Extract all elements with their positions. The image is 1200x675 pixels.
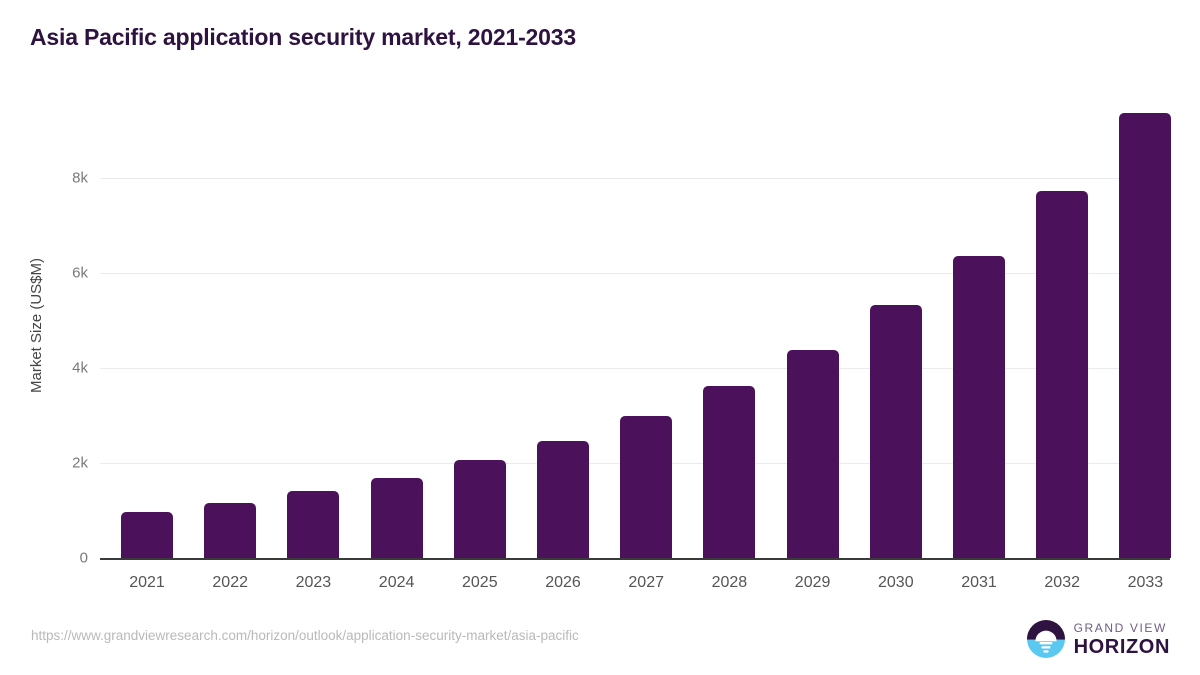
bar[interactable] bbox=[454, 460, 506, 558]
y-tick-mark bbox=[100, 273, 108, 274]
y-tick-mark bbox=[100, 368, 108, 369]
x-tick-label: 2021 bbox=[107, 574, 187, 592]
logo-line-2: HORIZON bbox=[1074, 637, 1170, 657]
bar[interactable] bbox=[287, 491, 339, 558]
y-tick-mark bbox=[100, 463, 108, 464]
bar[interactable] bbox=[787, 350, 839, 558]
y-tick-label: 8k bbox=[28, 169, 88, 186]
bar[interactable] bbox=[1036, 191, 1088, 558]
axis-baseline bbox=[100, 558, 1170, 560]
x-tick-label: 2025 bbox=[440, 574, 520, 592]
x-tick-label: 2022 bbox=[190, 574, 270, 592]
x-tick-label: 2027 bbox=[606, 574, 686, 592]
y-tick-label: 0 bbox=[28, 550, 88, 567]
bar[interactable] bbox=[204, 503, 256, 558]
bar[interactable] bbox=[1119, 113, 1171, 558]
horizon-sun-circle-icon bbox=[1027, 620, 1065, 658]
page-title: Asia Pacific application security market… bbox=[30, 24, 576, 51]
bar[interactable] bbox=[121, 512, 173, 558]
gridline bbox=[108, 273, 1170, 274]
brand-logo: GRAND VIEW HORIZON bbox=[1027, 620, 1170, 658]
logo-wordmark: GRAND VIEW HORIZON bbox=[1074, 622, 1170, 657]
bar[interactable] bbox=[703, 386, 755, 558]
bar[interactable] bbox=[371, 478, 423, 558]
y-tick-mark bbox=[100, 178, 108, 179]
source-url: https://www.grandviewresearch.com/horizo… bbox=[31, 628, 579, 643]
y-tick-label: 2k bbox=[28, 454, 88, 471]
bar[interactable] bbox=[953, 256, 1005, 558]
plot-area: 02k4k6k8k2021202220232024202520262027202… bbox=[100, 90, 1170, 560]
x-tick-label: 2024 bbox=[357, 574, 437, 592]
gridline bbox=[108, 178, 1170, 179]
logo-line-1: GRAND VIEW bbox=[1074, 622, 1170, 634]
x-tick-label: 2023 bbox=[273, 574, 353, 592]
chart-card: Asia Pacific application security market… bbox=[0, 0, 1200, 675]
gridline bbox=[108, 368, 1170, 369]
y-tick-label: 6k bbox=[28, 264, 88, 281]
bar[interactable] bbox=[620, 416, 672, 558]
x-tick-label: 2026 bbox=[523, 574, 603, 592]
x-tick-label: 2032 bbox=[1022, 574, 1102, 592]
bar[interactable] bbox=[537, 441, 589, 558]
y-tick-label: 4k bbox=[28, 359, 88, 376]
bar[interactable] bbox=[870, 305, 922, 558]
x-tick-label: 2029 bbox=[773, 574, 853, 592]
x-tick-label: 2033 bbox=[1105, 574, 1185, 592]
x-tick-label: 2028 bbox=[689, 574, 769, 592]
x-tick-label: 2030 bbox=[856, 574, 936, 592]
y-axis-title: Market Size (US$M) bbox=[26, 90, 48, 560]
x-tick-label: 2031 bbox=[939, 574, 1019, 592]
